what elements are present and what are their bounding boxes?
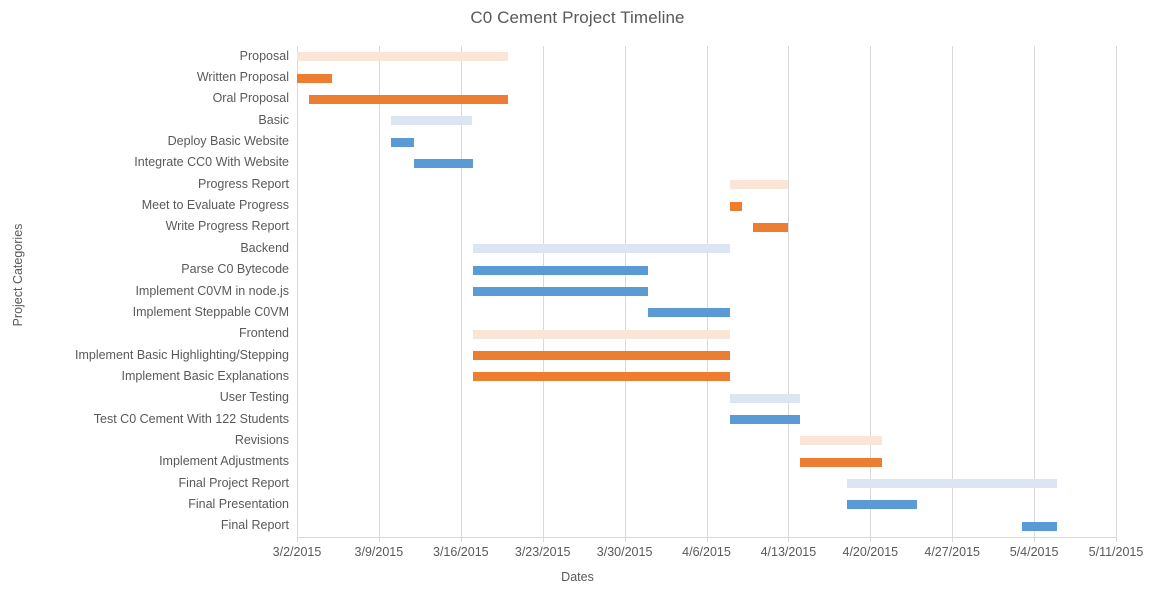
x-axis-tick-label: 5/11/2015 bbox=[1089, 545, 1144, 559]
plot-area bbox=[297, 46, 1116, 537]
gantt-bar[interactable] bbox=[800, 458, 882, 467]
category-label: Implement Basic Explanations bbox=[0, 369, 289, 383]
category-label: Test C0 Cement With 122 Students bbox=[0, 412, 289, 426]
gantt-bar[interactable] bbox=[297, 74, 332, 83]
x-axis-tick-label: 5/4/2015 bbox=[1010, 545, 1059, 559]
x-axis-tick-mark bbox=[1116, 537, 1117, 542]
gridline bbox=[379, 46, 380, 537]
x-axis-tick-mark bbox=[625, 537, 626, 542]
x-axis-title: Dates bbox=[0, 570, 1155, 584]
category-label: Frontend bbox=[0, 326, 289, 340]
gantt-bar[interactable] bbox=[648, 308, 730, 317]
category-label: Write Progress Report bbox=[0, 219, 289, 233]
category-label: Final Project Report bbox=[0, 476, 289, 490]
category-label: Final Report bbox=[0, 518, 289, 532]
x-axis-tick-label: 3/2/2015 bbox=[273, 545, 322, 559]
category-label: Basic bbox=[0, 113, 289, 127]
gantt-bar[interactable] bbox=[753, 223, 788, 232]
gantt-bar[interactable] bbox=[473, 266, 649, 275]
category-label: Integrate CC0 With Website bbox=[0, 155, 289, 169]
gantt-bar[interactable] bbox=[391, 116, 473, 125]
x-axis-tick-label: 3/9/2015 bbox=[355, 545, 404, 559]
chart-title: C0 Cement Project Timeline bbox=[0, 8, 1155, 28]
x-axis-tick-mark bbox=[788, 537, 789, 542]
gantt-chart: C0 Cement Project Timeline Project Categ… bbox=[0, 0, 1155, 589]
y-axis-title: Project Categories bbox=[11, 205, 25, 345]
category-label: Backend bbox=[0, 241, 289, 255]
gantt-bar[interactable] bbox=[730, 180, 789, 189]
category-label: Progress Report bbox=[0, 177, 289, 191]
gantt-bar[interactable] bbox=[473, 244, 730, 253]
category-label: Implement Basic Highlighting/Stepping bbox=[0, 348, 289, 362]
gantt-bar[interactable] bbox=[473, 287, 649, 296]
gridline bbox=[707, 46, 708, 537]
gantt-bar[interactable] bbox=[309, 95, 508, 104]
gantt-bar[interactable] bbox=[473, 351, 730, 360]
x-axis-tick-mark bbox=[707, 537, 708, 542]
gantt-bar[interactable] bbox=[391, 138, 414, 147]
x-axis-tick-label: 4/20/2015 bbox=[842, 545, 898, 559]
gridline bbox=[1034, 46, 1035, 537]
gridline bbox=[297, 46, 298, 537]
gantt-bar[interactable] bbox=[847, 500, 917, 509]
x-axis-tick-mark bbox=[297, 537, 298, 542]
category-label: Implement Adjustments bbox=[0, 454, 289, 468]
category-label: Revisions bbox=[0, 433, 289, 447]
category-label: Oral Proposal bbox=[0, 91, 289, 105]
category-label: Meet to Evaluate Progress bbox=[0, 198, 289, 212]
gridline bbox=[1116, 46, 1117, 537]
x-axis-tick-mark bbox=[870, 537, 871, 542]
gridline bbox=[952, 46, 953, 537]
x-axis-tick-mark bbox=[1034, 537, 1035, 542]
x-axis-tick-label: 3/30/2015 bbox=[597, 545, 653, 559]
category-label: User Testing bbox=[0, 390, 289, 404]
x-axis-tick-mark bbox=[461, 537, 462, 542]
x-axis-tick-label: 4/6/2015 bbox=[682, 545, 731, 559]
gantt-bar[interactable] bbox=[800, 436, 882, 445]
category-label: Implement C0VM in node.js bbox=[0, 284, 289, 298]
gantt-bar[interactable] bbox=[297, 52, 508, 61]
x-axis-tick-mark bbox=[543, 537, 544, 542]
gantt-bar[interactable] bbox=[730, 394, 800, 403]
gantt-bar[interactable] bbox=[414, 159, 473, 168]
gridline bbox=[788, 46, 789, 537]
category-label: Implement Steppable C0VM bbox=[0, 305, 289, 319]
category-label: Deploy Basic Website bbox=[0, 134, 289, 148]
x-axis-tick-mark bbox=[952, 537, 953, 542]
category-label: Final Presentation bbox=[0, 497, 289, 511]
gantt-bar[interactable] bbox=[473, 372, 730, 381]
x-axis-tick-label: 4/13/2015 bbox=[761, 545, 817, 559]
x-axis-tick-label: 3/23/2015 bbox=[515, 545, 571, 559]
gantt-bar[interactable] bbox=[473, 330, 730, 339]
x-axis-tick-label: 4/27/2015 bbox=[924, 545, 980, 559]
category-label: Written Proposal bbox=[0, 70, 289, 84]
x-axis-tick-mark bbox=[379, 537, 380, 542]
gantt-bar[interactable] bbox=[730, 202, 742, 211]
category-label: Parse C0 Bytecode bbox=[0, 262, 289, 276]
gantt-bar[interactable] bbox=[847, 479, 1058, 488]
x-axis-tick-label: 3/16/2015 bbox=[433, 545, 489, 559]
gantt-bar[interactable] bbox=[730, 415, 800, 424]
gantt-bar[interactable] bbox=[1022, 522, 1057, 531]
category-label: Proposal bbox=[0, 49, 289, 63]
